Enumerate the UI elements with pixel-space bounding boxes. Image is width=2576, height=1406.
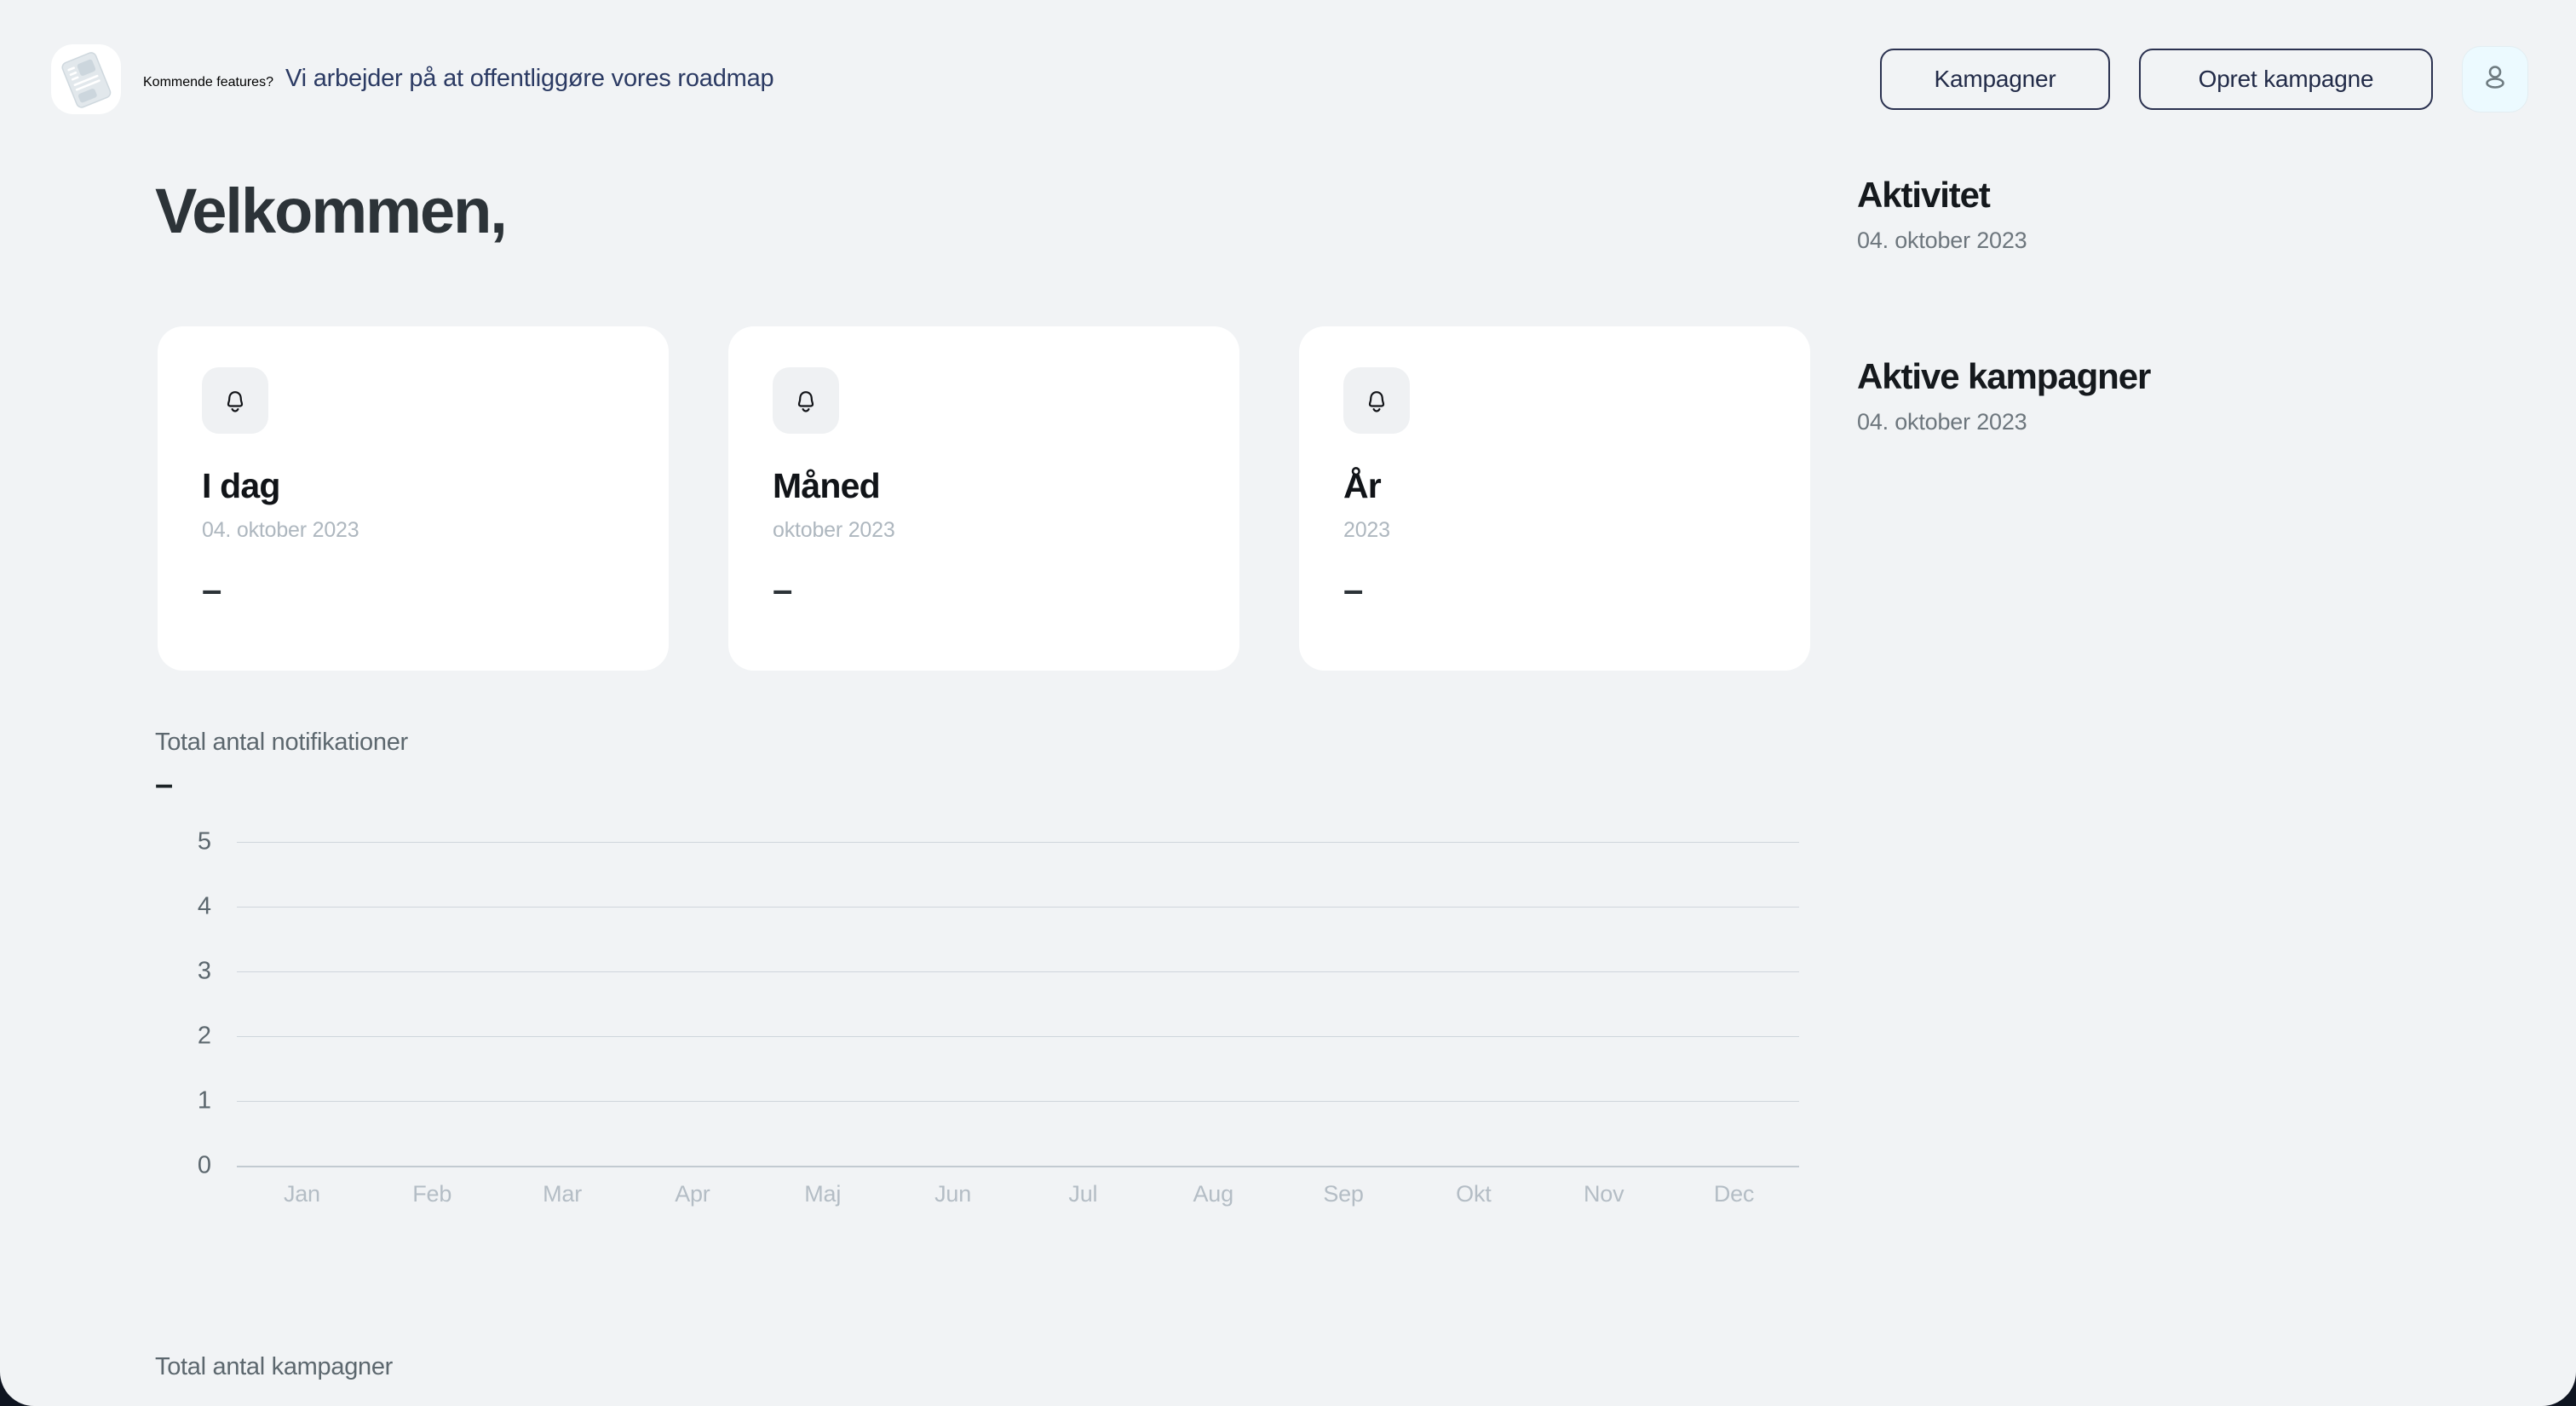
y-tick: 5: [198, 828, 211, 856]
page-title: Velkommen,: [155, 175, 506, 247]
bell-icon: [773, 367, 839, 434]
stat-card-year[interactable]: År 2023 –: [1299, 326, 1810, 671]
stat-card-value: –: [202, 572, 624, 608]
brand-area: Kommende features? Vi arbejder på at off…: [51, 44, 773, 114]
header-actions: Kampagner Opret kampagne: [1880, 46, 2528, 112]
stat-card-title: I dag: [202, 466, 624, 506]
x-tick: Feb: [367, 1181, 497, 1207]
panel-active-campaigns: Aktive kampagner 04. oktober 2023: [1857, 356, 2504, 435]
x-tick: Jun: [888, 1181, 1018, 1207]
stat-card-subtitle: 2023: [1343, 518, 1766, 543]
chart-gridlines: [237, 842, 1799, 1166]
y-tick: 4: [198, 893, 211, 921]
bell-icon: [1343, 367, 1410, 434]
chart-y-axis: 5 4 3 2 1 0: [155, 842, 211, 1166]
roadmap-link[interactable]: Vi arbejder på at offentliggøre vores ro…: [285, 65, 774, 93]
panel-activity: Aktivitet 04. oktober 2023: [1857, 175, 2504, 254]
chart-total-value: –: [155, 769, 1799, 801]
tagline-lead-text: Kommende features?: [143, 75, 273, 90]
x-tick: Mar: [497, 1181, 628, 1207]
stat-card-subtitle: oktober 2023: [773, 518, 1195, 543]
x-tick: Nov: [1538, 1181, 1669, 1207]
x-tick: Aug: [1148, 1181, 1279, 1207]
gridline: [237, 842, 1799, 843]
gridline: [237, 971, 1799, 972]
y-tick: 2: [198, 1023, 211, 1051]
stat-card-value: –: [773, 572, 1195, 608]
panel-title: Aktivitet: [1857, 175, 2504, 216]
app-header: Kommende features? Vi arbejder på at off…: [0, 0, 2576, 158]
stat-card-title: År: [1343, 466, 1766, 506]
campaigns-button[interactable]: Kampagner: [1880, 49, 2110, 110]
x-tick: Dec: [1669, 1181, 1799, 1207]
gridline-baseline: [237, 1166, 1799, 1167]
panel-date: 04. oktober 2023: [1857, 228, 2504, 254]
stat-card-today[interactable]: I dag 04. oktober 2023 –: [158, 326, 669, 671]
notifications-chart-block: Total antal notifikationer – 5 4 3 2 1 0…: [155, 729, 1799, 1183]
stat-card-subtitle: 04. oktober 2023: [202, 518, 624, 543]
x-tick: Okt: [1408, 1181, 1538, 1207]
user-icon: [2479, 61, 2511, 97]
x-tick: Sep: [1279, 1181, 1409, 1207]
stat-card-month[interactable]: Måned oktober 2023 –: [728, 326, 1239, 671]
gridline: [237, 907, 1799, 908]
gridline: [237, 1036, 1799, 1037]
x-tick: Jan: [237, 1181, 367, 1207]
gridline: [237, 1101, 1799, 1102]
chart-label: Total antal kampagner: [155, 1353, 393, 1381]
newspaper-logo-icon[interactable]: [51, 44, 121, 114]
create-campaign-button[interactable]: Opret kampagne: [2139, 49, 2433, 110]
x-tick: Maj: [757, 1181, 888, 1207]
dashboard-page: Kommende features? Vi arbejder på at off…: [0, 0, 2576, 1406]
bell-icon: [202, 367, 268, 434]
notifications-line-chart: 5 4 3 2 1 0 Jan Feb Mar Apr Maj: [155, 842, 1799, 1183]
chart-label: Total antal notifikationer: [155, 729, 1799, 757]
stat-card-value: –: [1343, 572, 1766, 608]
panel-date: 04. oktober 2023: [1857, 409, 2504, 435]
user-account-button[interactable]: [2462, 46, 2528, 112]
y-tick: 3: [198, 958, 211, 986]
chart-x-axis: Jan Feb Mar Apr Maj Jun Jul Aug Sep Okt …: [237, 1181, 1799, 1207]
y-tick: 1: [198, 1087, 211, 1115]
x-tick: Jul: [1018, 1181, 1148, 1207]
stat-cards-row: I dag 04. oktober 2023 – Måned oktober 2…: [158, 326, 1810, 671]
stat-card-title: Måned: [773, 466, 1195, 506]
roadmap-tagline: Kommende features? Vi arbejder på at off…: [143, 65, 773, 93]
panel-spacer: [1857, 254, 2504, 356]
x-tick: Apr: [627, 1181, 757, 1207]
y-tick: 0: [198, 1152, 211, 1180]
activity-sidebar: Aktivitet 04. oktober 2023 Aktive kampag…: [1857, 175, 2504, 435]
campaigns-chart-block: Total antal kampagner: [155, 1353, 393, 1381]
panel-title: Aktive kampagner: [1857, 356, 2504, 397]
